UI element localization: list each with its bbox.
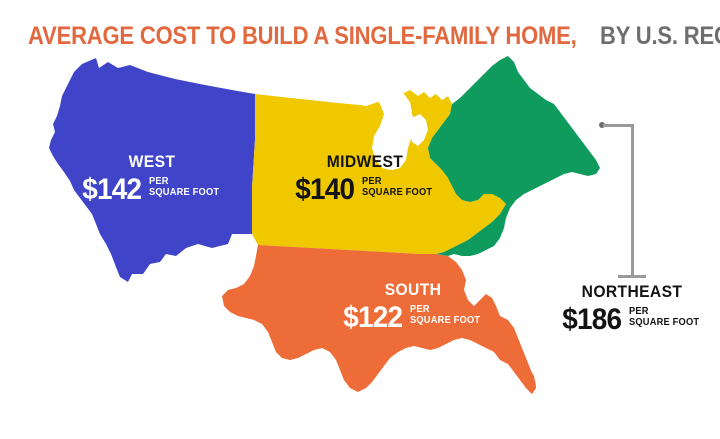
map-region-south[interactable] xyxy=(222,245,536,394)
page-title-subtitle: BY U.S. REGION xyxy=(600,22,720,50)
callout-line-foot xyxy=(618,275,646,278)
page-title-main: AVERAGE COST TO BUILD A SINGLE-FAMILY HO… xyxy=(28,22,577,50)
callout-line-vertical xyxy=(631,124,634,277)
infographic-root: AVERAGE COST TO BUILD A SINGLE-FAMILY HO… xyxy=(0,0,720,439)
map-region-west[interactable] xyxy=(49,58,255,282)
us-region-map xyxy=(0,48,720,439)
callout-line-horizontal xyxy=(603,124,634,127)
